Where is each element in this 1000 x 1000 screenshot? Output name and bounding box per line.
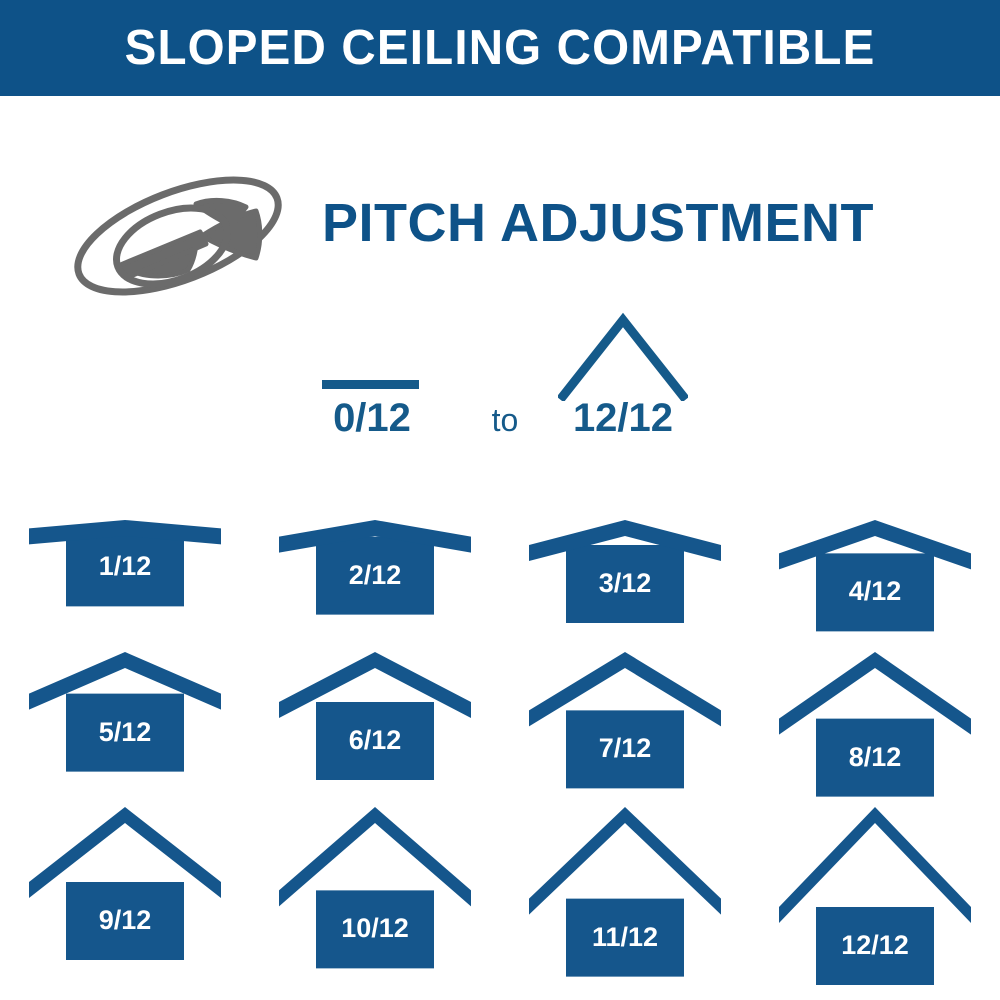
house-pitch-icon: 11/12: [525, 765, 725, 1000]
house-cell[interactable]: 9/12: [0, 765, 250, 1000]
page-title: SLOPED CEILING COMPATIBLE: [125, 20, 876, 76]
house-cell[interactable]: 11/12: [500, 765, 750, 1000]
peak-chevron-icon: [558, 306, 688, 401]
pitch-house-grid: 1/122/123/124/125/126/127/128/129/1210/1…: [0, 470, 1000, 930]
house-pitch-icon: 12/12: [775, 765, 975, 1000]
range-max-label: 12/12: [558, 396, 688, 441]
infographic-page: SLOPED CEILING COMPATIBLE PITCH ADJUSTME…: [0, 0, 1000, 1000]
house-pitch-icon: 9/12: [25, 765, 225, 1000]
section-title: PITCH ADJUSTMENT: [322, 192, 952, 254]
house-cell[interactable]: 12/12: [750, 765, 1000, 1000]
flat-line-icon: [322, 380, 419, 389]
ceiling-fan-icon: [60, 148, 300, 323]
pitch-range: 0/12 to 12/12: [300, 300, 720, 450]
range-min-label: 0/12: [312, 396, 432, 441]
house-cell[interactable]: 10/12: [250, 765, 500, 1000]
header-banner: SLOPED CEILING COMPATIBLE: [0, 0, 1000, 96]
house-row: 9/1210/1211/1212/12: [0, 765, 1000, 1000]
range-to-label: to: [470, 402, 540, 439]
house-pitch-icon: 10/12: [275, 765, 475, 1000]
